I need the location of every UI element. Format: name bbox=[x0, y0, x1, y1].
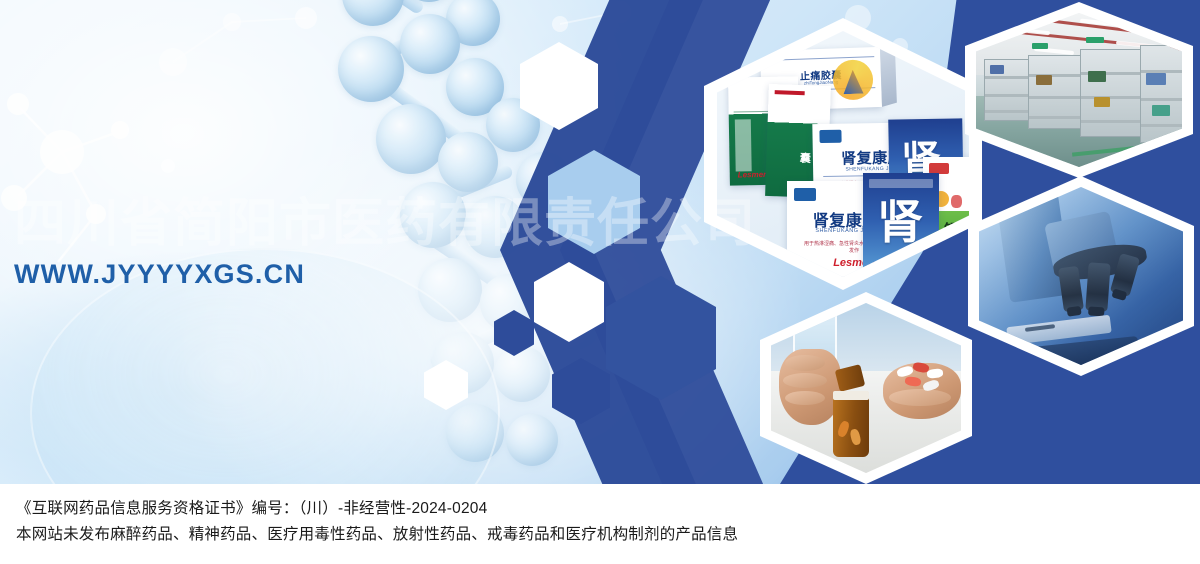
page-root: 止痛胶囊 zhiTongJiaoNang Lesmen 元胡止痛胶囊 bbox=[0, 0, 1200, 564]
product-logo-mark-2 bbox=[794, 188, 816, 201]
website-url[interactable]: WWW.JYYYYXGS.CN bbox=[14, 259, 756, 290]
footer-disclaimer-line: 本网站未发布麻醉药品、精神药品、医疗用毒性药品、放射性药品、戒毒药品和医疗机构制… bbox=[16, 522, 1200, 548]
product-brand-2: Lesmen bbox=[787, 257, 921, 269]
footer: 《互联网药品信息服务资格证书》编号：（川）-非经营性-2024-0204 本网站… bbox=[0, 484, 1200, 564]
pills-photo bbox=[771, 303, 961, 473]
product-logo-mark bbox=[819, 130, 841, 143]
page-title: 四川省简阳市医药有限责任公司 bbox=[14, 196, 756, 251]
product-glyph-kidney-2: 肾 bbox=[877, 199, 923, 245]
microscope-photo bbox=[979, 187, 1183, 365]
product-brand-1: Lesmen bbox=[738, 170, 768, 180]
footer-certificate-line: 《互联网药品信息服务资格证书》编号：（川）-非经营性-2024-0204 bbox=[16, 496, 1200, 522]
headline-block: 四川省简阳市医药有限责任公司 WWW.JYYYYXGS.CN bbox=[14, 196, 756, 290]
warehouse-photo bbox=[976, 13, 1182, 167]
hero-banner: 止痛胶囊 zhiTongJiaoNang Lesmen 元胡止痛胶囊 bbox=[0, 0, 1200, 484]
